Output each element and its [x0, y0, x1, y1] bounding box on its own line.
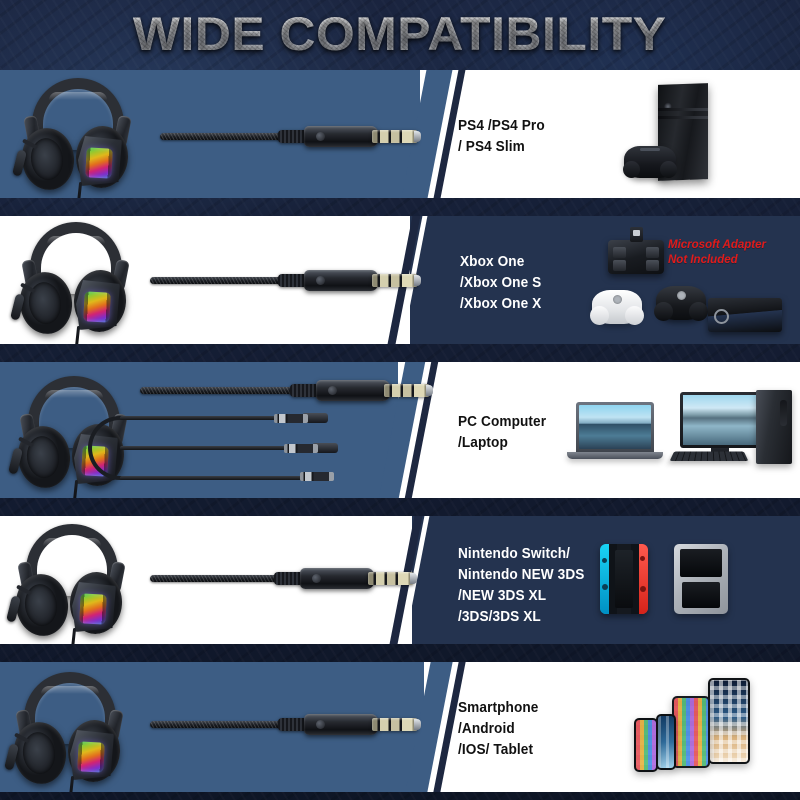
row-pc-device-group — [560, 390, 800, 476]
jack-tip — [426, 385, 433, 396]
3ds-bottom-screen — [682, 582, 720, 608]
switch-screen — [615, 550, 633, 608]
compat-row-nintendo: Nintendo Switch/ Nintendo NEW 3DS /NEW 3… — [0, 516, 800, 644]
splitter-audio-plug — [284, 444, 318, 453]
xbox-guide-button — [613, 295, 622, 304]
nintendo-3ds-xl — [674, 544, 728, 614]
ps4-console-slot-1 — [658, 108, 708, 111]
jack-barrel — [316, 380, 390, 401]
row-ps4-device-group — [610, 84, 790, 190]
adapter-button-volume — [646, 260, 659, 271]
ipad — [708, 678, 750, 764]
joycon-button — [602, 558, 607, 563]
header-banner: WIDE COMPATIBILITY — [0, 0, 800, 66]
compat-row-xbox: Xbox One /Xbox One S /Xbox One X Microso… — [0, 216, 800, 344]
adapter-button-right — [646, 247, 659, 258]
cable-assembly-main — [140, 376, 390, 406]
jack-3-5mm-plug — [372, 130, 418, 143]
splitter-extra-plug — [300, 472, 334, 481]
nintendo-switch — [600, 544, 648, 614]
xbox-stereo-adapter — [608, 240, 664, 274]
headset-image — [14, 522, 132, 640]
headset-rgb-light — [83, 291, 111, 322]
xbox-one-x-console — [708, 298, 782, 332]
desktop-monitor — [680, 392, 760, 448]
laptop-screen — [576, 402, 654, 452]
compat-row-ps4: PS4 /PS4 Pro / PS4 Slim — [0, 70, 800, 198]
jack-3-5mm-plug — [384, 384, 430, 397]
cable-assembly — [150, 266, 390, 296]
iphone — [656, 714, 676, 770]
page-title: WIDE COMPATIBILITY — [133, 6, 667, 61]
jack-tip — [414, 275, 421, 286]
row-xbox-label: Xbox One /Xbox One S /Xbox One X — [460, 252, 547, 315]
headset-rgb-light — [77, 741, 105, 772]
pc-tower — [756, 390, 792, 464]
3ds-top-screen — [680, 549, 722, 577]
laptop-base — [567, 452, 663, 459]
row-xbox-device-group — [580, 226, 800, 341]
xbox-controller-white — [592, 290, 642, 324]
infographic-page: WIDE COMPATIBILITY — [0, 0, 800, 800]
cable-assembly — [150, 710, 400, 740]
jack-barrel — [304, 714, 378, 735]
joycon-stick — [602, 584, 608, 590]
jack-3-5mm-plug — [368, 572, 414, 585]
splitter-cable-group — [88, 414, 408, 492]
ps4-console-slot-2 — [658, 116, 708, 119]
adapter-button-left — [613, 247, 626, 258]
splitter-cable-loop — [88, 416, 122, 480]
compat-row-pc: PC Computer /Laptop — [0, 362, 800, 498]
joycon-button — [640, 556, 645, 561]
cable-assembly — [160, 122, 390, 152]
jack-tip — [414, 131, 421, 142]
ipad-mini — [672, 696, 710, 768]
jack-tip — [410, 573, 417, 584]
dualshock-controller — [624, 146, 676, 178]
cable-braided — [140, 387, 308, 394]
headset-image — [12, 670, 130, 788]
jack-barrel — [300, 568, 374, 589]
jack-barrel — [304, 126, 378, 147]
headset-rgb-light — [79, 593, 107, 624]
row-nintendo-device-group — [600, 542, 800, 622]
headset-rgb-light — [85, 147, 113, 178]
adapter-button-mute — [613, 260, 626, 271]
jack-3-5mm-plug — [372, 274, 418, 287]
headset-image — [18, 220, 136, 338]
row-pc-label: PC Computer /Laptop — [458, 412, 552, 454]
row-nintendo-label: Nintendo Switch/ Nintendo NEW 3DS /NEW 3… — [458, 544, 593, 628]
compat-row-mobile: Smartphone /Android /IOS/ Tablet — [0, 662, 800, 792]
row-mobile-device-group — [610, 674, 800, 784]
jack-barrel — [304, 270, 378, 291]
xbox-controller-black — [656, 286, 706, 320]
jack-tip — [414, 719, 421, 730]
row-ps4-label: PS4 /PS4 Pro / PS4 Slim — [458, 116, 550, 158]
iphone-x — [634, 718, 658, 772]
joycon-stick — [640, 586, 646, 592]
jack-3-5mm-plug — [372, 718, 418, 731]
splitter-mic-plug — [274, 414, 308, 423]
cable-assembly — [150, 564, 390, 594]
adapter-usb-connector — [630, 227, 643, 242]
row-mobile-label: Smartphone /Android /IOS/ Tablet — [458, 698, 544, 761]
controller-lightbar — [640, 148, 660, 151]
xbox-guide-button — [677, 291, 686, 300]
headset-image — [20, 76, 138, 194]
